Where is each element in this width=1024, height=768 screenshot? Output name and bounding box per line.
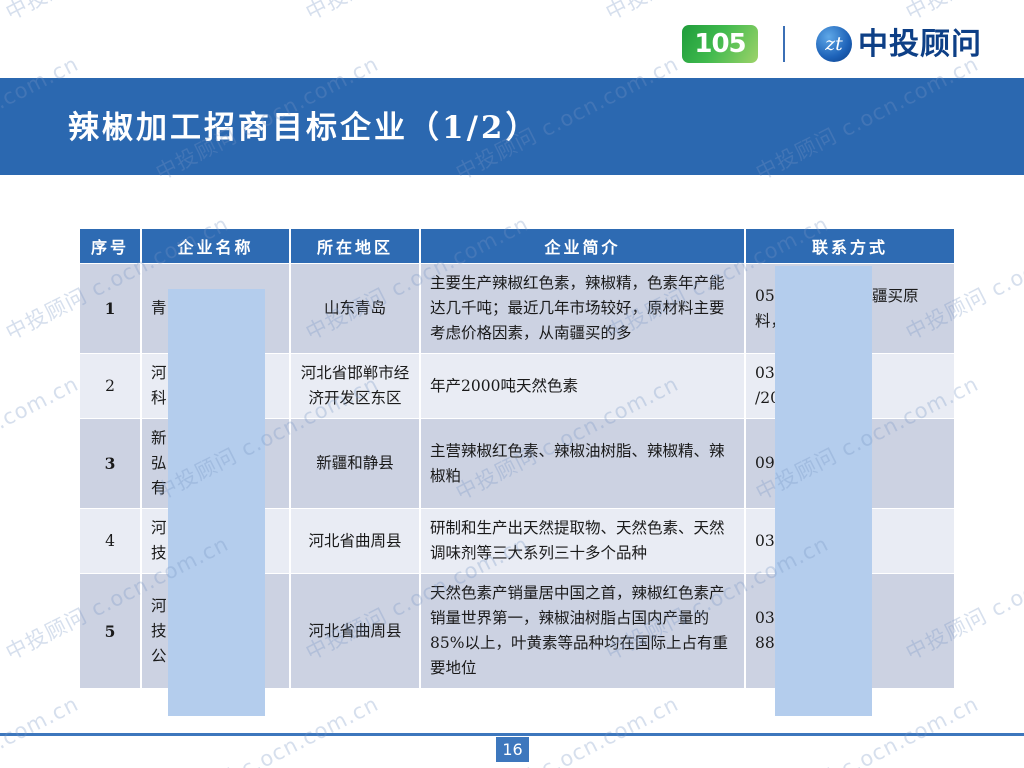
table-header-row: 序号 企业名称 所在地区 企业简介 联系方式 [80, 229, 954, 263]
watermark-text: 中投顾问 c.ocn.com.cn [0, 368, 83, 507]
redaction-box-contact [775, 266, 872, 716]
watermark-text: 中投顾问 c.ocn.com.cn [450, 688, 683, 768]
cell-index: 3 [80, 419, 140, 508]
cell-area: 河北省曲周县 [291, 509, 419, 573]
watermark-text: 中投顾问 c.ocn.com.cn [0, 688, 83, 768]
cell-index: 1 [80, 264, 140, 353]
column-header-index: 序号 [80, 229, 140, 263]
redaction-box-company-name [168, 289, 265, 716]
column-header-area: 所在地区 [291, 229, 419, 263]
brand-name: 中投顾问 [858, 28, 982, 62]
zhongtou-mark-icon: zt [816, 26, 852, 62]
column-header-contact: 联系方式 [746, 229, 954, 263]
column-header-desc: 企业简介 [421, 229, 744, 263]
header-logo-bar: 105 zt 中投顾问 [0, 0, 1024, 78]
cell-area: 新疆和静县 [291, 419, 419, 508]
logo-105-badge: 105 [682, 25, 758, 63]
cell-area: 河北省邯郸市经济开发区东区 [291, 354, 419, 418]
cell-desc: 天然色素产销量居中国之首，辣椒红色素产销量世界第一，辣椒油树脂占国内产量的85%… [421, 574, 744, 688]
cell-index: 5 [80, 574, 140, 688]
zhongtou-mark-glyph: zt [825, 33, 843, 55]
logo-105-text: 105 [694, 29, 745, 59]
cell-desc: 研制和生产出天然提取物、天然色素、天然调味剂等三大系列三十多个品种 [421, 509, 744, 573]
title-banner: 辣椒加工招商目标企业（1/2） [0, 78, 1024, 175]
cell-desc: 年产2000吨天然色素 [421, 354, 744, 418]
cell-area: 山东青岛 [291, 264, 419, 353]
page-title: 辣椒加工招商目标企业（1/2） [68, 102, 539, 147]
page-number-badge: 16 [496, 737, 529, 762]
cell-desc: 主要生产辣椒红色素，辣椒精，色素年产能达几千吨；最近几年市场较好，原材料主要考虑… [421, 264, 744, 353]
cell-area: 河北省曲周县 [291, 574, 419, 688]
logo-divider [783, 26, 785, 62]
column-header-name: 企业名称 [142, 229, 289, 263]
cell-desc: 主营辣椒红色素、辣椒油树脂、辣椒精、辣椒粕 [421, 419, 744, 508]
cell-index: 4 [80, 509, 140, 573]
cell-index: 2 [80, 354, 140, 418]
footer-divider [0, 733, 1024, 736]
